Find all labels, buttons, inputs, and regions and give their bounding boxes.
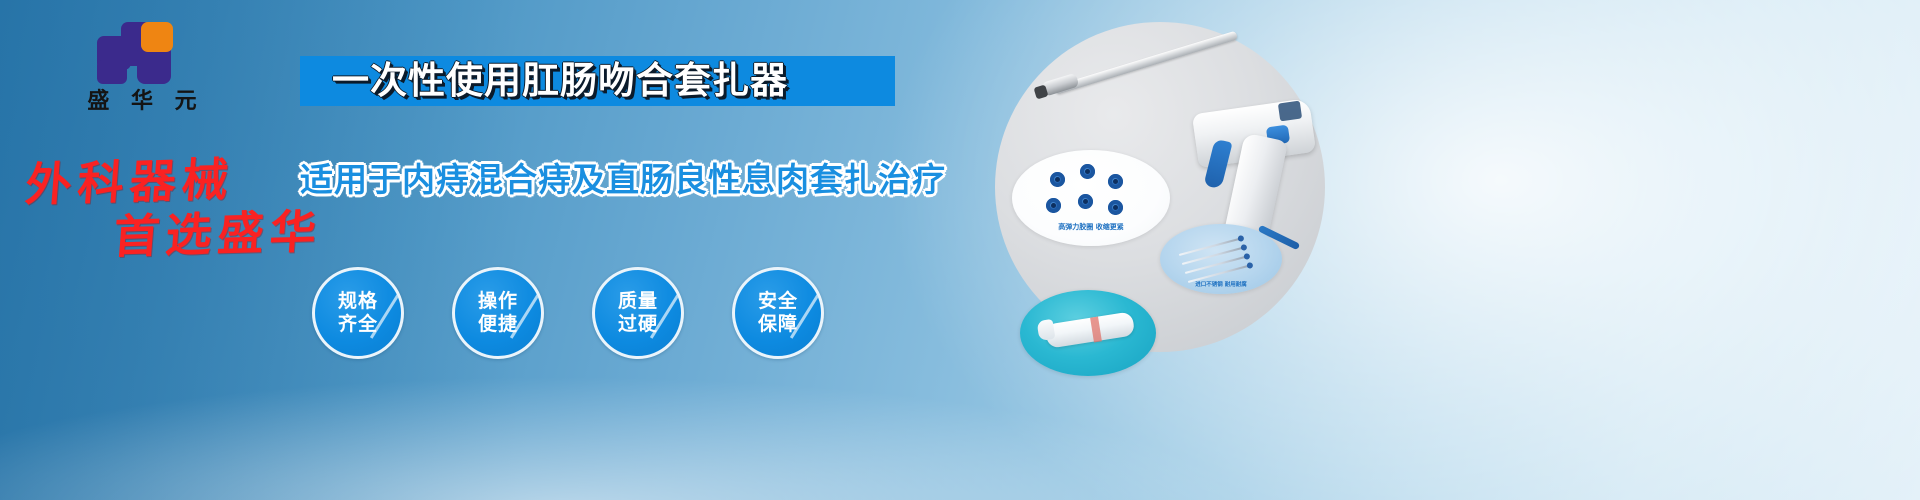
feature-badge-label: 规格 齐全 bbox=[315, 270, 401, 356]
capsule-inset bbox=[1020, 290, 1156, 376]
device-barrel bbox=[1054, 31, 1238, 95]
needle-head bbox=[1237, 235, 1244, 242]
logo-block-bottom-left bbox=[97, 60, 127, 84]
rubber-ring-icon bbox=[1108, 174, 1123, 189]
feature-label-line2: 过硬 bbox=[618, 313, 658, 336]
feature-badge-label: 质量 过硬 bbox=[595, 270, 681, 356]
page-title: 一次性使用肛肠吻合套扎器 bbox=[332, 56, 872, 106]
promo-banner: 盛 华 元 外科器械 首选盛华 一次性使用肛肠吻合套扎器 适用于内痔混合痔及直肠… bbox=[0, 0, 1920, 500]
needle-head bbox=[1246, 262, 1253, 269]
feature-badge-label: 安全 保障 bbox=[735, 270, 821, 356]
shenghuayuan-blocks-icon bbox=[97, 22, 187, 84]
rubber-ring-icon bbox=[1108, 200, 1123, 215]
feature-label-line2: 便捷 bbox=[478, 313, 518, 336]
logo-block-orange bbox=[141, 22, 173, 52]
instrument-tray-caption: 进口不锈钢 耐用耐腐 bbox=[1160, 280, 1282, 288]
feature-badge-label: 操作 便捷 bbox=[455, 270, 541, 356]
instrument-tray-inset: 进口不锈钢 耐用耐腐 bbox=[1160, 224, 1282, 294]
red-slogan: 外科器械 首选盛华 bbox=[0, 146, 330, 266]
product-photo-area: 高弹力胶圈 收缩更紧 进口不锈钢 耐用耐腐 bbox=[960, 0, 1920, 500]
feature-label-line2: 保障 bbox=[758, 313, 798, 336]
feature-badge-safety[interactable]: 安全 保障 bbox=[732, 267, 824, 359]
needle-head bbox=[1243, 253, 1250, 260]
brand-name: 盛 华 元 bbox=[62, 88, 222, 116]
capsule-tip bbox=[1037, 319, 1056, 341]
feature-label-line2: 齐全 bbox=[338, 313, 378, 336]
feature-badge-list: 规格 齐全 操作 便捷 质量 过硬 安全 保障 bbox=[312, 267, 842, 363]
rubber-ring-icon bbox=[1080, 164, 1095, 179]
rubber-rings-inset: 高弹力胶圈 收缩更紧 bbox=[1012, 150, 1170, 246]
needle-head bbox=[1240, 244, 1247, 251]
feature-label-line1: 安全 bbox=[758, 290, 798, 313]
red-slogan-line2: 首选盛华 bbox=[111, 195, 325, 266]
rubber-ring-icon bbox=[1050, 172, 1065, 187]
feature-label-line1: 规格 bbox=[338, 290, 378, 313]
feature-badge-quality[interactable]: 质量 过硬 bbox=[592, 267, 684, 359]
rubber-ring-icon bbox=[1078, 194, 1093, 209]
rubber-rings-caption: 高弹力胶圈 收缩更紧 bbox=[1012, 222, 1170, 232]
needle-icon bbox=[1179, 238, 1239, 256]
rubber-ring-icon bbox=[1046, 198, 1061, 213]
feature-label-line1: 质量 bbox=[618, 290, 658, 313]
feature-label-line1: 操作 bbox=[478, 290, 518, 313]
feature-badge-operation[interactable]: 操作 便捷 bbox=[452, 267, 544, 359]
feature-badge-specifications[interactable]: 规格 齐全 bbox=[312, 267, 404, 359]
brand-logo[interactable]: 盛 华 元 bbox=[62, 22, 222, 122]
page-subtitle: 适用于内痔混合痔及直肠良性息肉套扎治疗 bbox=[300, 158, 920, 202]
device-panel bbox=[1278, 101, 1302, 122]
